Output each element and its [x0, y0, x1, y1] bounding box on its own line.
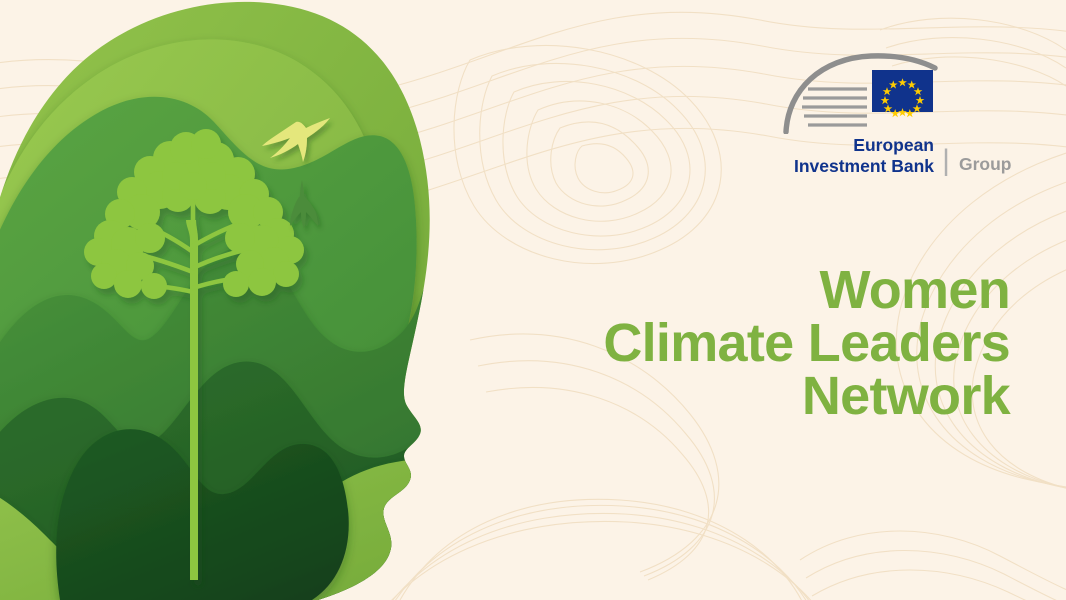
european-union-flag	[872, 70, 933, 117]
logo-divider: |	[942, 144, 950, 177]
title-line-2: Climate Leaders	[390, 317, 1010, 370]
logo-suffix-group: Group	[959, 154, 1012, 174]
banner-root: European Investment Bank | Group Women C…	[0, 0, 1066, 600]
logo-line-european: European	[853, 135, 934, 155]
eib-logo-mark	[783, 52, 938, 134]
page-title: Women Climate Leaders Network	[390, 264, 1010, 423]
title-line-3: Network	[390, 370, 1010, 423]
logo-line-investment-bank: Investment Bank	[794, 156, 934, 176]
title-line-1: Women	[390, 264, 1010, 317]
eib-group-logo: European Investment Bank | Group	[783, 52, 1015, 177]
eib-logo-wordmark: European Investment Bank | Group	[783, 134, 1015, 180]
